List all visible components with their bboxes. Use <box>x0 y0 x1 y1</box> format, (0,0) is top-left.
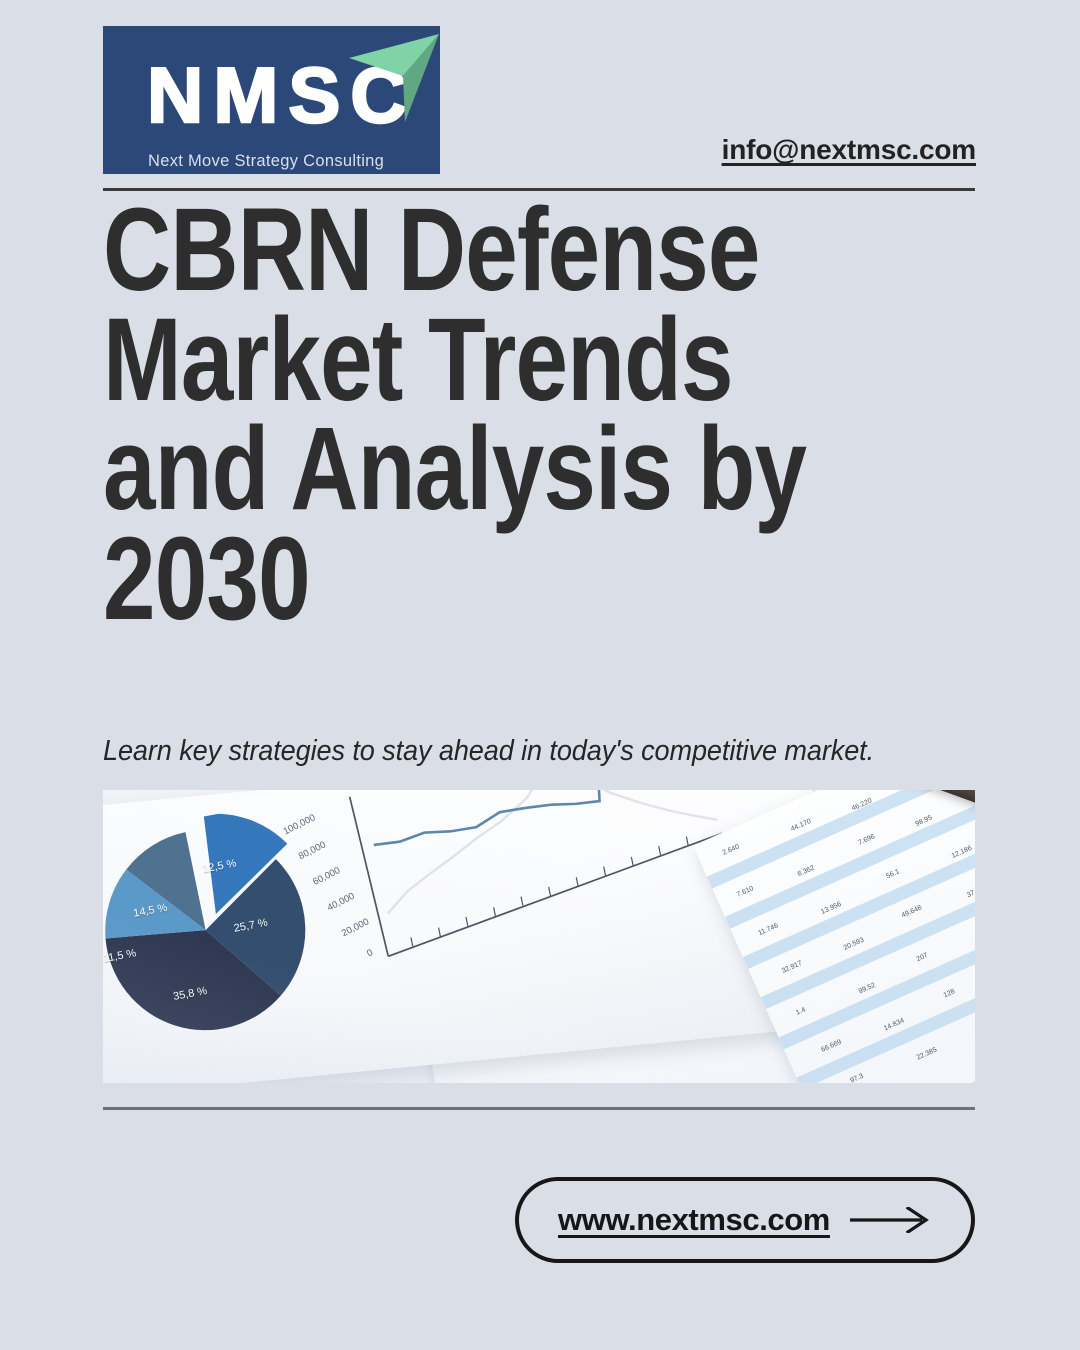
table-cell: 7.610 <box>736 885 755 899</box>
table-cell: 128 <box>943 988 957 999</box>
logo-tagline: Next Move Strategy Consulting <box>148 152 384 171</box>
logo-letter-n: N <box>147 51 213 139</box>
table-cell: 11.746 <box>757 922 779 937</box>
hero-photo: FIGURE 2 <box>103 790 975 1083</box>
table-cell: 99.52 <box>858 982 877 996</box>
nmsc-logo[interactable]: NMSC Next Move Strategy Consulting <box>103 26 440 174</box>
page-title: CBRN Defense Market Trends and Analysis … <box>103 196 967 635</box>
trend-line-chart: 100,000 80,000 60,000 40,000 20,000 0 <box>278 790 737 989</box>
table-cell: 56.1 <box>885 868 900 880</box>
contact-email[interactable]: info@nextmsc.com <box>722 134 976 166</box>
table-cell: 37.594 <box>966 884 975 899</box>
table-cell: 97.3 <box>849 1073 864 1083</box>
table-cell: 66.669 <box>820 1039 842 1054</box>
table-cell: 207 <box>916 952 930 963</box>
paper-plane-arrow-icon <box>335 32 440 132</box>
table-cell: 49.648 <box>901 904 923 919</box>
long-right-arrow-icon <box>850 1207 932 1233</box>
table-cell: 20.593 <box>843 937 865 952</box>
website-url-label: www.nextmsc.com <box>558 1202 830 1238</box>
page-subtitle: Learn key strategies to stay ahead in to… <box>103 735 874 768</box>
table-cell: 32.917 <box>781 960 803 975</box>
hero-photo-scene: FIGURE 2 <box>103 790 975 1083</box>
title-line-1: CBRN Defense <box>103 196 967 306</box>
table-cell: 1.4 <box>795 1006 807 1016</box>
title-line-4: 2030 <box>103 525 967 635</box>
table-cell: 7.696 <box>857 833 876 847</box>
title-line-2: Market Trends <box>103 306 967 416</box>
title-line-3: and Analysis by <box>103 415 967 525</box>
poster-canvas: NMSC Next Move Strategy Consulting info@… <box>0 0 1080 1350</box>
footer-divider <box>103 1107 975 1110</box>
table-cell: 8.362 <box>797 865 816 879</box>
table-cell: 22.385 <box>916 1047 938 1062</box>
logo-letter-m: M <box>213 51 288 139</box>
table-cell: 2.640 <box>722 843 741 857</box>
website-cta-button[interactable]: www.nextmsc.com <box>515 1177 975 1263</box>
